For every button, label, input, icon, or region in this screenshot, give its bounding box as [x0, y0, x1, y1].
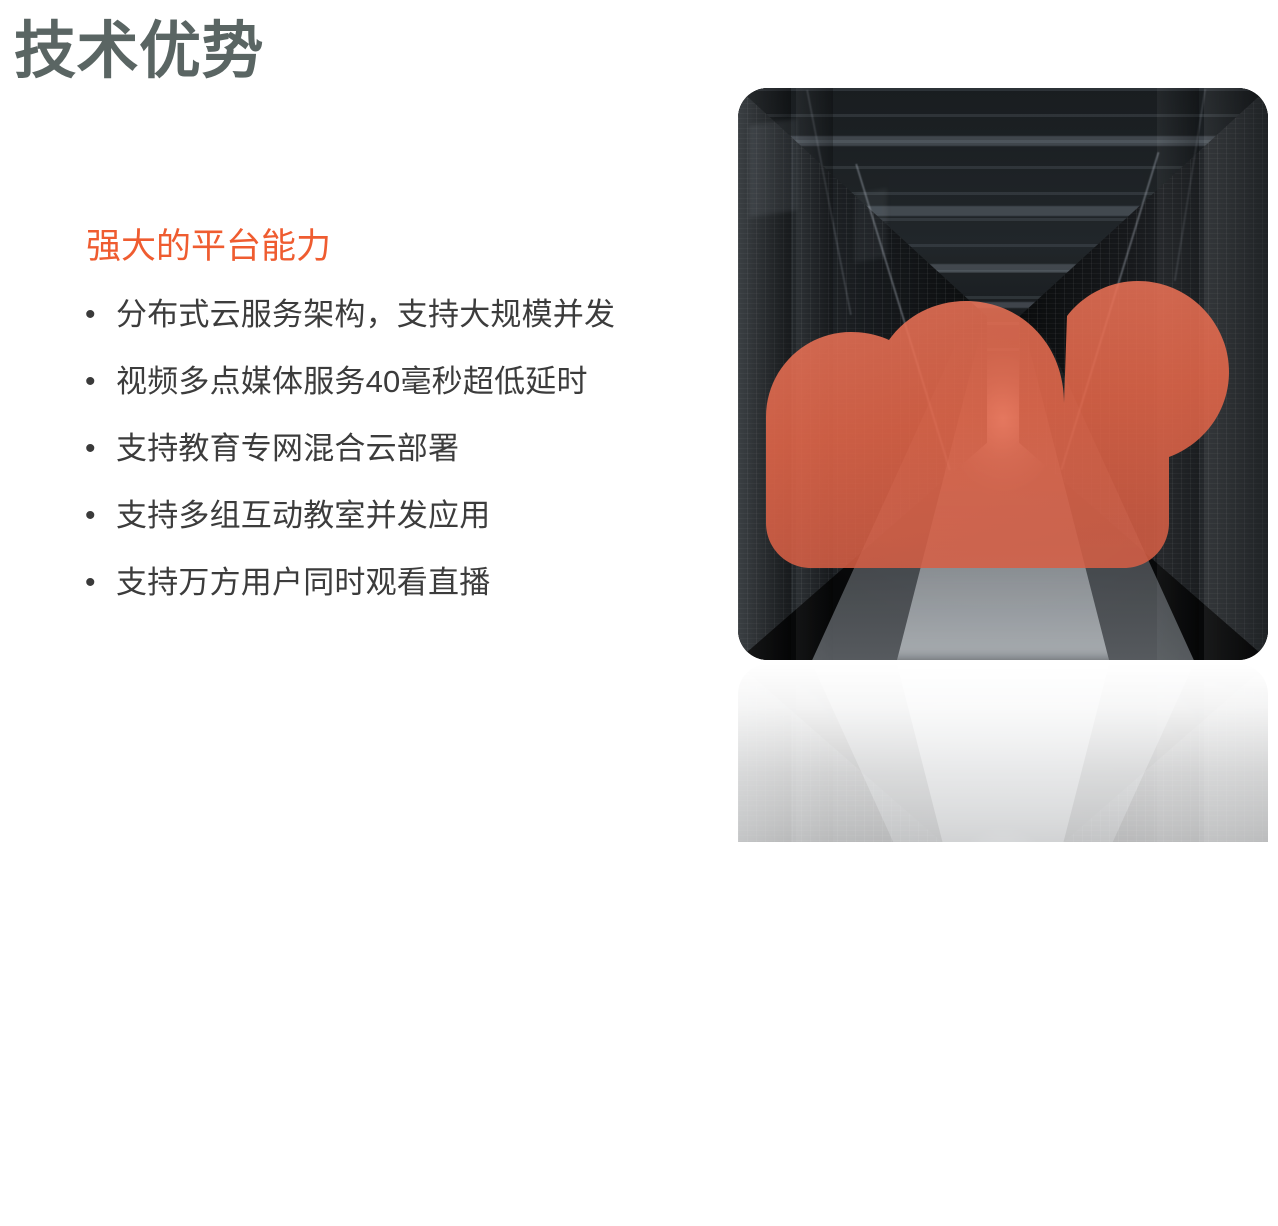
bullet-dot-icon: •	[82, 364, 116, 400]
server-cabinet-reflection	[738, 664, 791, 842]
list-item: • 支持万方用户同时观看直播	[82, 565, 702, 632]
bullet-dot-icon: •	[82, 498, 116, 534]
rack-glass-reflection	[749, 119, 797, 217]
list-item: • 视频多点媒体服务40毫秒超低延时	[82, 364, 702, 431]
list-item-label: 支持教育专网混合云部署	[116, 431, 459, 467]
media-panel	[738, 88, 1268, 660]
feature-bullet-list: • 分布式云服务架构，支持大规模并发 • 视频多点媒体服务40毫秒超低延时 • …	[82, 297, 702, 632]
bullet-dot-icon: •	[82, 297, 116, 333]
server-cabinet	[1204, 88, 1268, 660]
server-cabinet-reflection	[1204, 664, 1268, 842]
list-item: • 支持教育专网混合云部署	[82, 431, 702, 498]
server-cabinet	[796, 88, 833, 660]
photo-reflection	[738, 664, 1268, 842]
rack-glass-reflection	[855, 188, 887, 262]
list-item-label: 支持万方用户同时观看直播	[116, 565, 490, 601]
list-item-label: 视频多点媒体服务40毫秒超低延时	[116, 364, 588, 400]
photo-reflection-inner	[738, 664, 1268, 842]
list-item-label: 分布式云服务架构，支持大规模并发	[116, 297, 615, 333]
section-heading: 强大的平台能力	[86, 224, 331, 270]
server-cabinet	[1157, 88, 1199, 660]
bullet-dot-icon: •	[82, 565, 116, 601]
bullet-dot-icon: •	[82, 431, 116, 467]
list-item-label: 支持多组互动教室并发应用	[116, 498, 490, 534]
datacenter-scene	[738, 88, 1268, 660]
content-text-column: 强大的平台能力 • 分布式云服务架构，支持大规模并发 • 视频多点媒体服务40毫…	[0, 0, 700, 700]
datacenter-scene-reflection	[738, 664, 1268, 842]
list-item: • 支持多组互动教室并发应用	[82, 498, 702, 565]
datacenter-photo-card	[738, 88, 1268, 660]
list-item: • 分布式云服务架构，支持大规模并发	[82, 297, 702, 364]
